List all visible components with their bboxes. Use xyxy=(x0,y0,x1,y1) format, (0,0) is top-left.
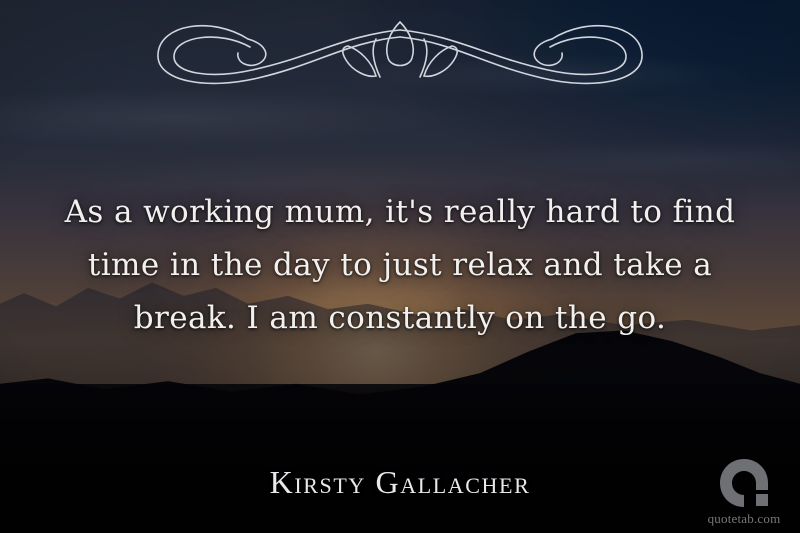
quote-line: time in the day to just relax and take a xyxy=(40,239,760,292)
author-name: Kirsty Gallacher xyxy=(0,464,800,501)
quote-poster: As a working mum, it's really hard to fi… xyxy=(0,0,800,533)
quote-text: As a working mum, it's really hard to fi… xyxy=(40,186,760,345)
watermark-site-label[interactable]: quotetab.com xyxy=(696,511,792,527)
quote-line: break. I am constantly on the go. xyxy=(40,292,760,345)
ornamental-flourish-icon xyxy=(80,6,720,88)
quote-line: As a working mum, it's really hard to fi… xyxy=(40,186,760,239)
quotetab-q-logo-icon[interactable] xyxy=(696,455,792,513)
watermark[interactable]: quotetab.com xyxy=(696,455,792,527)
